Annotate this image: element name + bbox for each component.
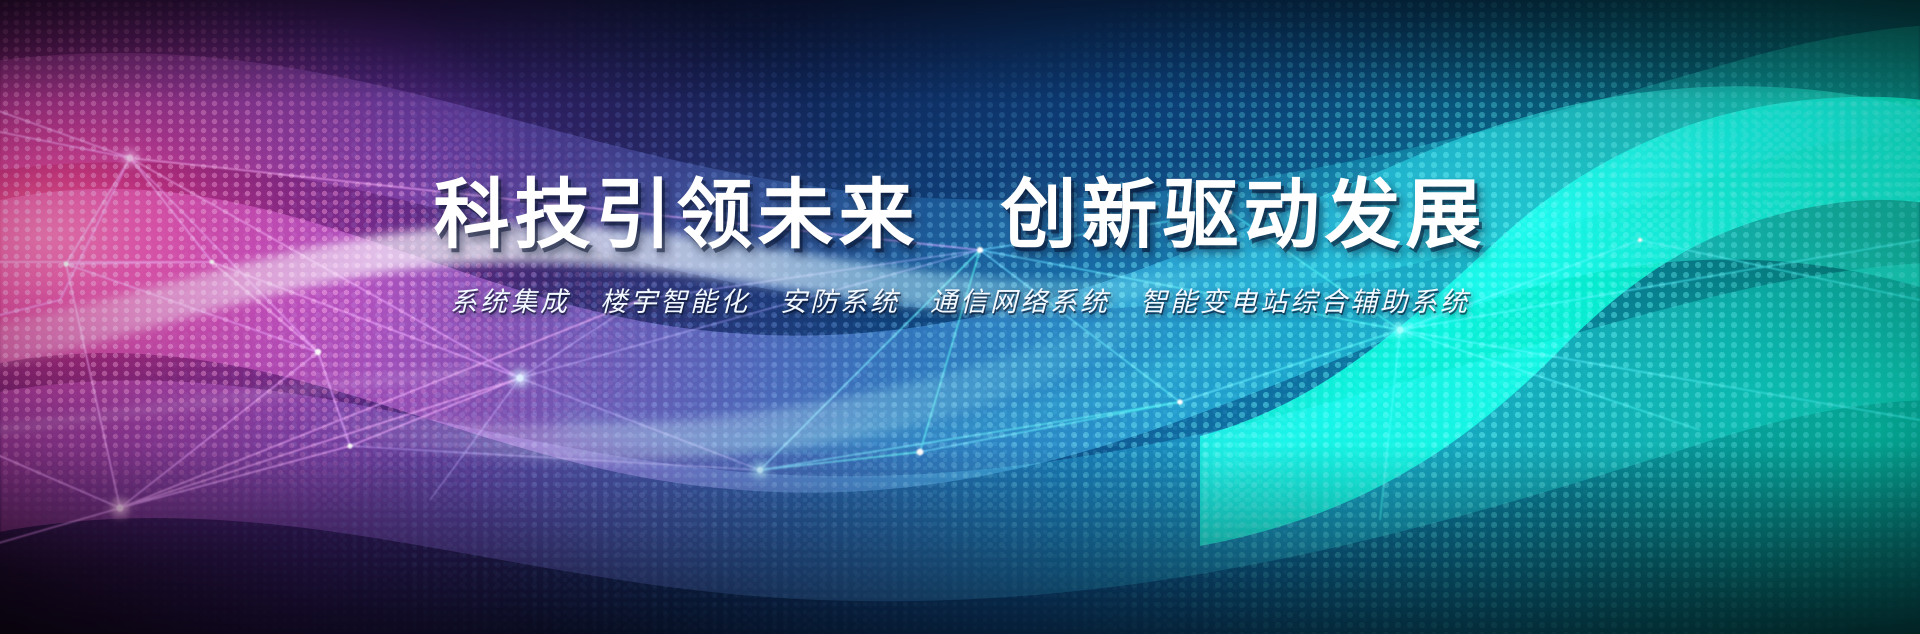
banner-text-block: 科技引领未来 创新驱动发展 系统集成 楼宇智能化 安防系统 通信网络系统 智能变…: [0, 178, 1920, 319]
tech-banner: 科技引领未来 创新驱动发展 系统集成 楼宇智能化 安防系统 通信网络系统 智能变…: [0, 0, 1920, 634]
banner-subtitle: 系统集成 楼宇智能化 安防系统 通信网络系统 智能变电站综合辅助系统: [0, 280, 1920, 319]
banner-headline: 科技引领未来 创新驱动发展: [0, 178, 1920, 254]
